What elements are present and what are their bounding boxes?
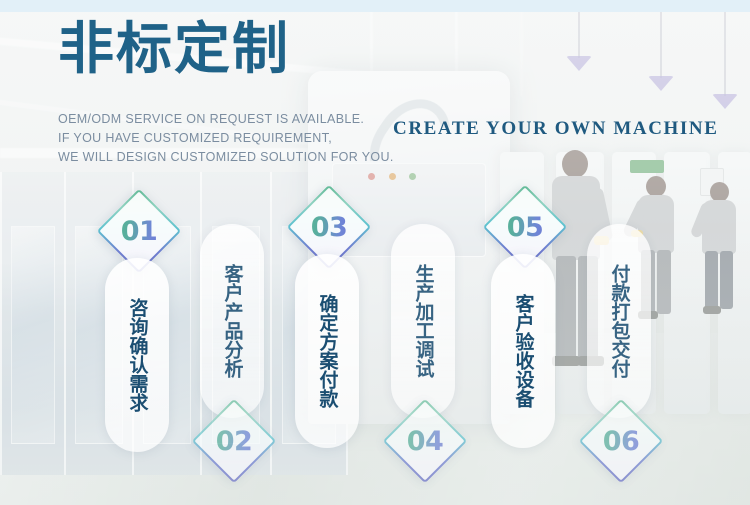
- step-capsule-02: 客户产品分析: [200, 224, 264, 418]
- step-capsule-01: 咨询确认需求: [105, 258, 169, 452]
- banner-stage: 非标定制 OEM/ODM SERVICE ON REQUEST IS AVAIL…: [0, 0, 750, 505]
- step-capsule-04: 生产加工调试: [391, 224, 455, 418]
- step-number-03: 03: [301, 199, 357, 255]
- step-label-05: 客户验收设备: [510, 294, 537, 408]
- step-label-03: 确定方案付款: [314, 294, 341, 408]
- step-number-04: 04: [397, 413, 453, 469]
- step-number-05: 05: [497, 199, 553, 255]
- step-number-01: 01: [111, 203, 167, 259]
- step-capsule-05: 客户验收设备: [491, 254, 555, 448]
- step-label-01: 咨询确认需求: [124, 298, 151, 412]
- step-badge-diamond-06: 06: [579, 399, 664, 484]
- step-capsule-06: 付款打包交付: [587, 224, 651, 418]
- step-label-04: 生产加工调试: [410, 264, 437, 378]
- step-badge-diamond-04: 04: [383, 399, 468, 484]
- step-label-02: 客户产品分析: [219, 264, 246, 378]
- step-label-06: 付款打包交付: [606, 264, 633, 378]
- step-capsule-03: 确定方案付款: [295, 254, 359, 448]
- step-number-06: 06: [593, 413, 649, 469]
- step-badge-diamond-02: 02: [192, 399, 277, 484]
- step-number-02: 02: [206, 413, 262, 469]
- process-steps-list: 01 咨询确认需求 客户产品分析 02 03 确定方案付款: [0, 0, 750, 505]
